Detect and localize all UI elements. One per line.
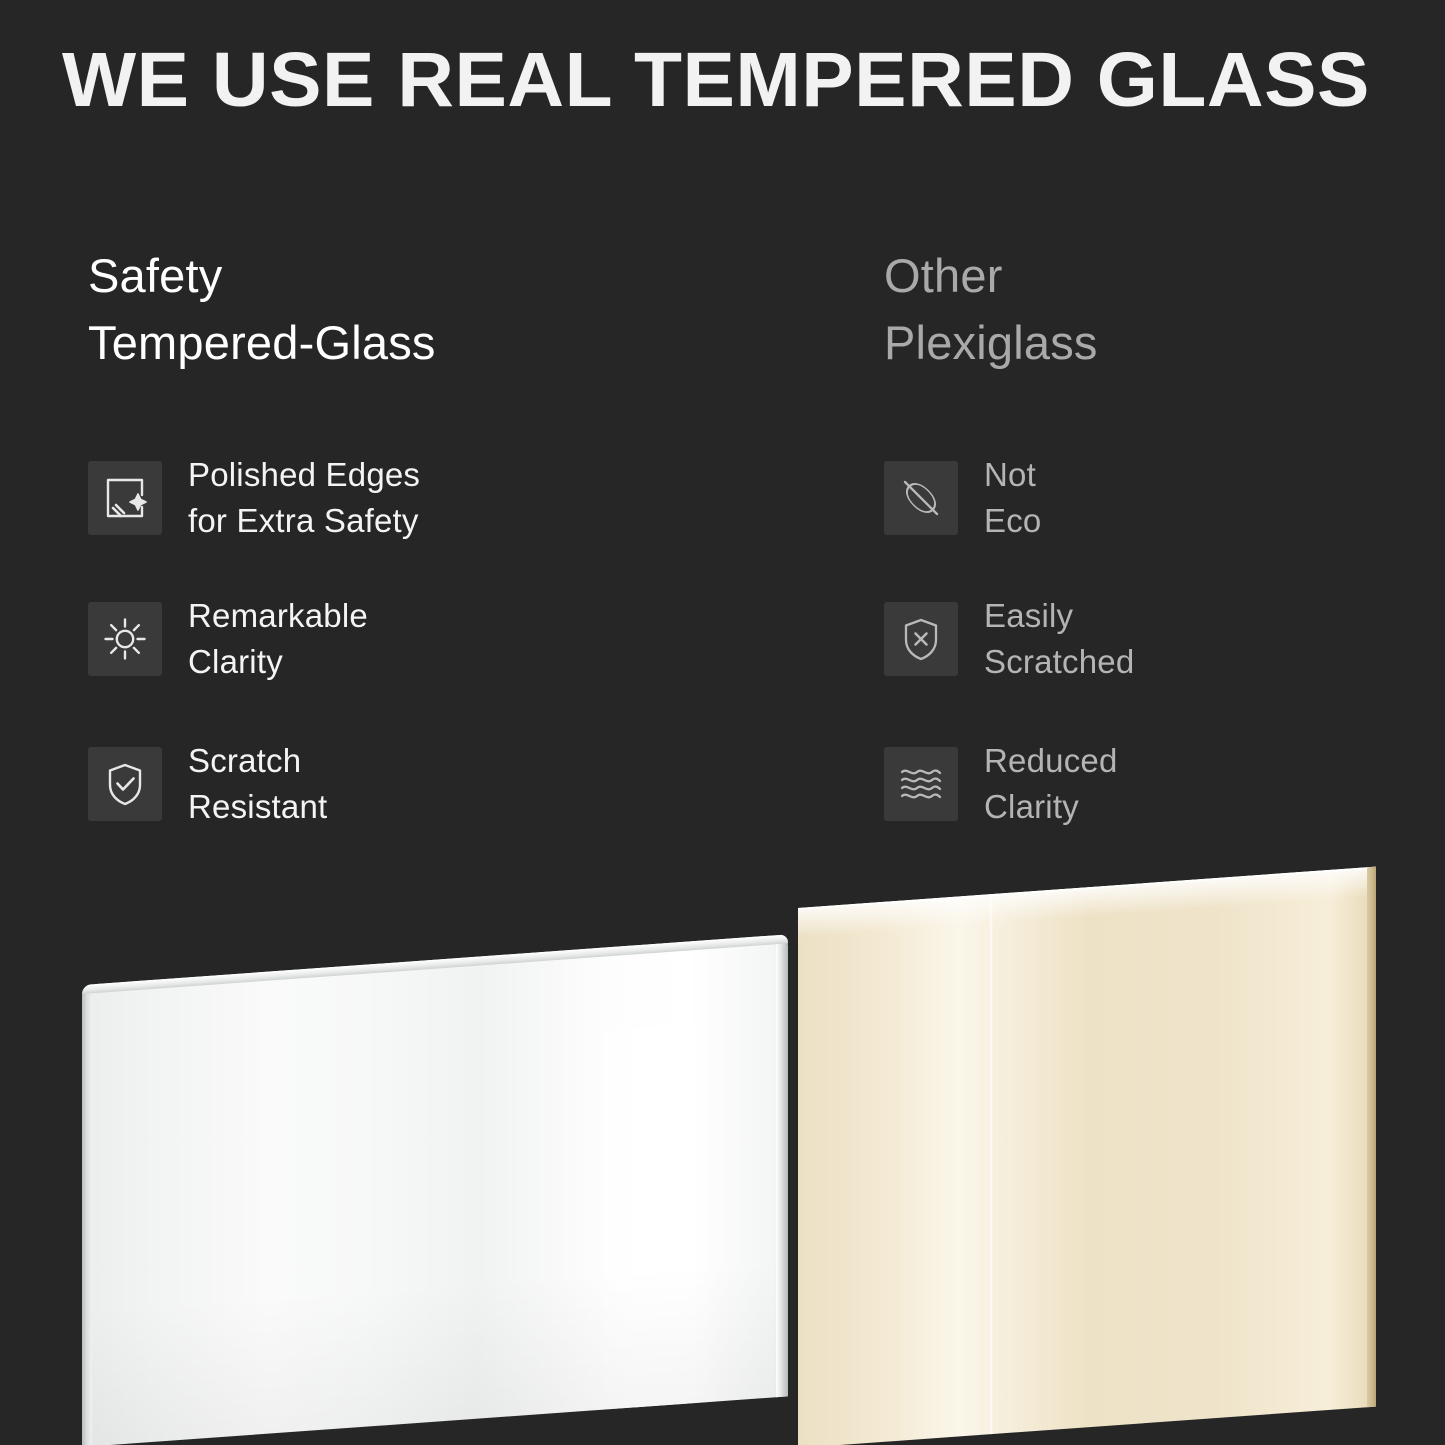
- tempered-glass-panel-image: [82, 934, 788, 1445]
- plexiglass-right-edge: [1367, 867, 1376, 1408]
- right-column-heading: Other Plexiglass: [884, 243, 1098, 376]
- feature-label: Remarkable Clarity: [188, 593, 368, 684]
- tempered-glass-right-bevel: [776, 934, 788, 1397]
- product-comparison-image: [0, 840, 1445, 1445]
- sun-icon: [88, 602, 162, 676]
- feature-scratch-resistant: Scratch Resistant: [88, 738, 327, 829]
- feature-not-eco: Not Eco: [884, 452, 1041, 543]
- infographic-root: WE USE REAL TEMPERED GLASS Safety Temper…: [0, 0, 1445, 1445]
- shield-check-icon: [88, 747, 162, 821]
- tempered-glass-shading: [82, 934, 788, 1445]
- shield-x-icon: [884, 602, 958, 676]
- feature-label: Scratch Resistant: [188, 738, 327, 829]
- wavy-lines-icon: [884, 747, 958, 821]
- feature-reduced-clarity: Reduced Clarity: [884, 738, 1118, 829]
- feature-label: Not Eco: [984, 452, 1041, 543]
- feature-polished-edges: Polished Edges for Extra Safety: [88, 452, 420, 543]
- left-column-heading: Safety Tempered-Glass: [88, 243, 436, 376]
- tempered-glass-left-bevel: [82, 984, 92, 1445]
- leaf-slash-icon: [884, 461, 958, 535]
- plexiglass-highlight: [989, 894, 993, 1434]
- feature-remarkable-clarity: Remarkable Clarity: [88, 593, 368, 684]
- page-title: WE USE REAL TEMPERED GLASS: [62, 42, 1419, 119]
- polished-glass-sparkle-icon: [88, 461, 162, 535]
- feature-label: Reduced Clarity: [984, 738, 1118, 829]
- feature-label: Easily Scratched: [984, 593, 1134, 684]
- feature-label: Polished Edges for Extra Safety: [188, 452, 420, 543]
- feature-easily-scratched: Easily Scratched: [884, 593, 1134, 684]
- plexiglass-panel-image: [798, 867, 1376, 1445]
